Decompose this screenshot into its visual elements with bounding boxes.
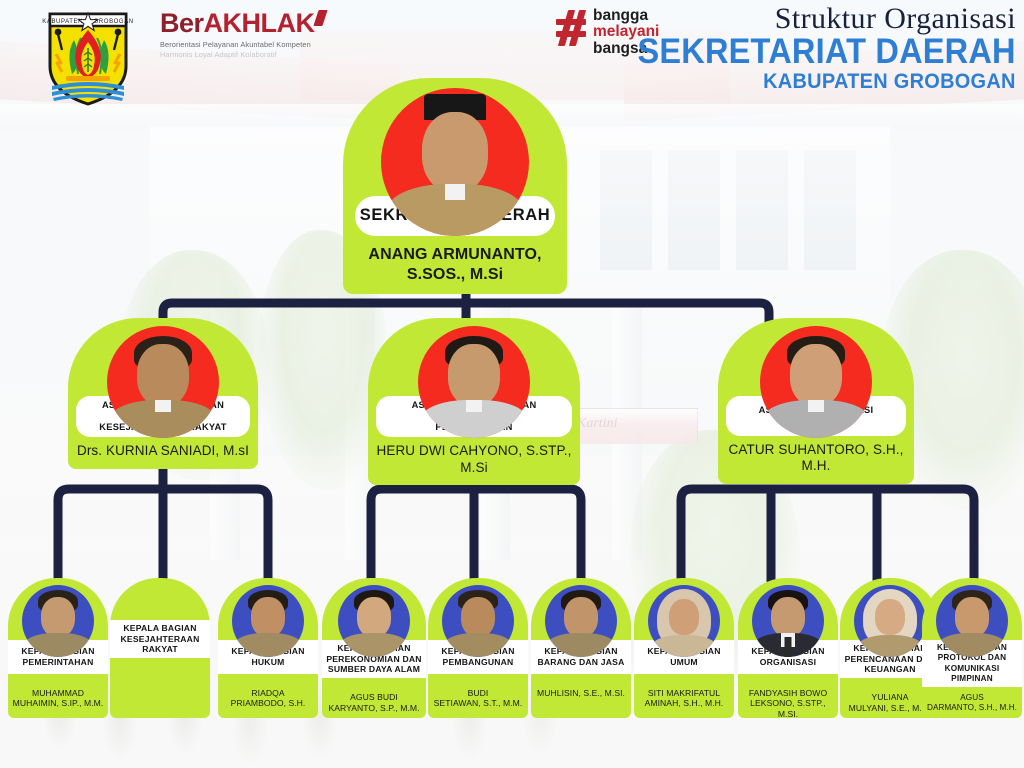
- name-line: AMINAH, S.H., M.H.: [636, 698, 732, 708]
- name-line: MUHLISIN, S.E., M.SI.: [533, 688, 629, 698]
- name-kabag-pemerintahan: MUHAMMAD MUHAIMIN, S.IP., M.M.: [8, 674, 108, 713]
- role-line: KOMUNIKASI: [937, 664, 1007, 674]
- photo-kabag-umum: [648, 585, 720, 657]
- role-line: UMUM: [647, 657, 720, 668]
- role-line: PEMERINTAHAN: [21, 657, 94, 668]
- node-kabag-kesejahteraan-rakyat[interactable]: KEPALA BAGIAN KESEJAHTERAAN RAKYAT: [110, 578, 210, 718]
- name-line: FANDYASIH BOWO: [740, 688, 836, 698]
- name-line: RIADQA: [220, 688, 316, 698]
- name-line: BUDI: [430, 688, 526, 698]
- photo-kabag-organisasi: [752, 585, 824, 657]
- photo-kabag-barang-dan-jasa: [545, 585, 617, 657]
- title-line-sekretariat-daerah: SEKRETARIAT DAERAH: [638, 34, 1016, 70]
- node-kabag-pemerintahan[interactable]: KEPALA BAGIAN PEMERINTAHAN MUHAMMAD MUHA…: [8, 578, 108, 718]
- node-sekretaris-daerah[interactable]: SEKRETARIS DAERAH ANANG ARMUNANTO, S.SOS…: [343, 78, 567, 294]
- name-line: SITI MAKRIFATUL: [636, 688, 732, 698]
- poster-title: Struktur Organisasi SEKRETARIAT DAERAH K…: [609, 2, 1016, 93]
- node-asisten-pemerintahan-kesra[interactable]: ASISTEN PEMERINTAHAN DAN KESEJAHTERAAN R…: [68, 318, 258, 469]
- photo-kabag-pembangunan: [442, 585, 514, 657]
- name-kabag-barang-dan-jasa: MUHLISIN, S.E., M.SI.: [531, 674, 631, 702]
- photo-kabag-perekonomian-sda: [338, 585, 410, 657]
- hashtag-icon: [556, 10, 586, 46]
- node-kabag-protokol-komunikasi-pimpinan[interactable]: KEPALA BAGIAN PROTOKOL DAN KOMUNIKASI PI…: [922, 578, 1022, 718]
- title-line-kabupaten-grobogan: KABUPATEN GROBOGAN: [630, 71, 1016, 93]
- name-kabag-kesejahteraan-rakyat: [110, 658, 210, 676]
- photo-sekretaris-daerah: [381, 88, 529, 236]
- role-line: SUMBER DAYA ALAM: [326, 664, 421, 675]
- node-kabag-umum[interactable]: KEPALA BAGIAN UMUM SITI MAKRIFATUL AMINA…: [634, 578, 734, 718]
- role-line: PIMPINAN: [937, 674, 1007, 684]
- node-kabag-organisasi[interactable]: KEPALA BAGIAN ORGANISASI FANDYASIH BOWO …: [738, 578, 838, 718]
- berakhlak-wordmark: BerAKHLAK: [160, 10, 340, 37]
- photo-kabag-protokol-komunikasi-pimpinan: [936, 585, 1008, 657]
- photo-asisten-pemerintahan-kesra: [107, 326, 219, 438]
- photo-kabag-pemerintahan: [22, 585, 94, 657]
- name-line: PRIAMBODO, S.H.: [220, 698, 316, 708]
- photo-asisten-administrasi-umum: [760, 326, 872, 438]
- berakhlak-tagline-line1: Berorientasi Pelayanan Akuntabel Kompete…: [160, 40, 340, 49]
- node-asisten-perekonomian-pembangunan[interactable]: ASISTEN PEREKONOMIAN DAN PEMBANGUNAN HER…: [368, 318, 580, 485]
- berakhlak-tagline-line2: Harmonis Loyal Adaptif Kolaboratif: [160, 50, 340, 59]
- name-kabag-umum: SITI MAKRIFATUL AMINAH, S.H., M.H.: [634, 674, 734, 713]
- org-chart-poster: Kartini KABUPATEN ★ GROBOGAN: [0, 0, 1024, 768]
- role-line: KESEJAHTERAAN: [121, 634, 200, 645]
- photo-asisten-perekonomian-pembangunan: [418, 326, 530, 438]
- role-kabag-kesejahteraan-rakyat: KEPALA BAGIAN KESEJAHTERAAN RAKYAT: [110, 620, 210, 658]
- role-line: RAKYAT: [121, 644, 200, 655]
- berakhlak-prefix: Ber: [160, 8, 204, 38]
- name-sekretaris-daerah: ANANG ARMUNANTO, S.SOS., M.Si: [343, 236, 567, 294]
- role-line: KEPALA BAGIAN: [121, 623, 200, 634]
- berakhlak-suffix: AKHLAK: [204, 8, 315, 38]
- name-kabag-perekonomian-sda: AGUS BUDI KARYANTO, S.P., M.M.: [322, 678, 426, 717]
- berakhlak-tick-icon: [313, 10, 327, 26]
- name-kabag-protokol-komunikasi-pimpinan: AGUS DARMANTO, S.H., M.H.: [922, 687, 1022, 717]
- role-line: ORGANISASI: [751, 657, 824, 668]
- name-kabag-pembangunan: BUDI SETIAWAN, S.T., M.M.: [428, 674, 528, 713]
- name-asisten-administrasi-umum: CATUR SUHANTORO, S.H., M.H.: [718, 436, 914, 484]
- node-kabag-perekonomian-sda[interactable]: KEPALA BAGIAN PEREKONOMIAN DAN SUMBER DA…: [322, 578, 426, 718]
- node-kabag-hukum[interactable]: KEPALA BAGIAN HUKUM RIADQA PRIAMBODO, S.…: [218, 578, 318, 718]
- name-line: LEKSONO, S.STP., M.SI.: [740, 698, 836, 719]
- node-asisten-administrasi-umum[interactable]: ASISTEN ADMINISTRASI UMUM CATUR SUHANTOR…: [718, 318, 914, 484]
- name-line: KARYANTO, S.P., M.M.: [324, 703, 424, 713]
- name-line: SETIAWAN, S.T., M.M.: [430, 698, 526, 708]
- name-asisten-perekonomian-pembangunan: HERU DWI CAHYONO, S.STP., M.Si: [368, 437, 580, 485]
- name-kabag-hukum: RIADQA PRIAMBODO, S.H.: [218, 674, 318, 713]
- name-line: AGUS BUDI: [324, 692, 424, 702]
- name-line: MUHAIMIN, S.IP., M.M.: [10, 698, 106, 708]
- name-line: DARMANTO, S.H., M.H.: [924, 703, 1020, 713]
- berakhlak-logo: BerAKHLAK Berorientasi Pelayanan Akuntab…: [160, 10, 340, 59]
- role-line: HUKUM: [231, 657, 304, 668]
- role-line: BARANG DAN JASA: [537, 657, 624, 668]
- title-line-struktur-organisasi: Struktur Organisasi: [609, 2, 1016, 35]
- name-kabag-organisasi: FANDYASIH BOWO LEKSONO, S.STP., M.SI.: [738, 674, 838, 723]
- name-asisten-pemerintahan-kesra: Drs. KURNIA SANIADI, M.sI: [68, 437, 258, 468]
- name-line: MUHAMMAD: [10, 688, 106, 698]
- name-line: AGUS: [924, 693, 1020, 703]
- grobogan-crest-icon: KABUPATEN ★ GROBOGAN: [36, 4, 140, 108]
- photo-kabag-hukum: [232, 585, 304, 657]
- role-line: PEMBANGUNAN: [441, 657, 514, 668]
- photo-kabag-perencanaan-keuangan: [854, 585, 926, 657]
- node-kabag-pembangunan[interactable]: KEPALA BAGIAN PEMBANGUNAN BUDI SETIAWAN,…: [428, 578, 528, 718]
- node-kabag-barang-dan-jasa[interactable]: KEPALA BAGIAN BARANG DAN JASA MUHLISIN, …: [531, 578, 631, 718]
